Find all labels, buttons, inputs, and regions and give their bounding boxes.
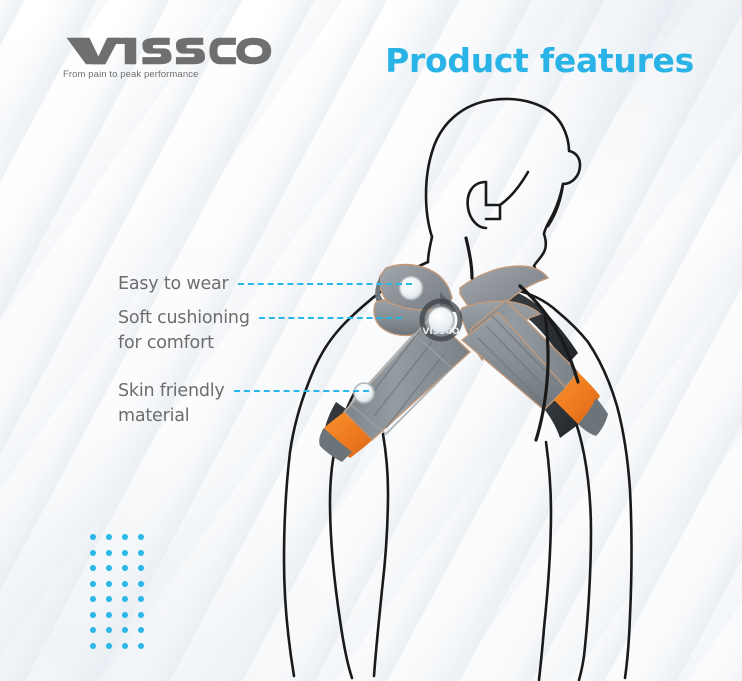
dot (138, 581, 144, 587)
dot (106, 627, 112, 633)
callout-skin-friendly-leader-line (234, 390, 369, 417)
dot (122, 581, 128, 587)
callout-skin-friendly-line-1: Skin friendly (118, 379, 225, 404)
dot (106, 581, 112, 587)
dot (106, 612, 112, 618)
decorative-dot-grid (90, 534, 154, 658)
dot (90, 565, 96, 571)
dot (106, 596, 112, 602)
dot (106, 643, 112, 649)
dot (122, 643, 128, 649)
dot (106, 534, 112, 540)
dot (90, 596, 96, 602)
dot (138, 643, 144, 649)
callout-soft-cushioning: Soft cushioning for comfort (118, 306, 402, 356)
dot (90, 612, 96, 618)
dot (106, 565, 112, 571)
dot (106, 550, 112, 556)
dot (138, 612, 144, 618)
product-features-slide: From pain to peak performance Product fe… (0, 0, 742, 681)
dot (90, 550, 96, 556)
dot (122, 550, 128, 556)
callout-skin-friendly-line-2: material (118, 404, 225, 429)
dot (122, 565, 128, 571)
dot (138, 534, 144, 540)
dot (122, 596, 128, 602)
callout-easy-to-wear-line-1: Easy to wear (118, 272, 229, 297)
dot (90, 627, 96, 633)
product-badge-text: VISSCO (422, 327, 459, 337)
callout-easy-to-wear-text: Easy to wear (118, 272, 229, 297)
callout-easy-to-wear: Easy to wear (118, 272, 412, 310)
callout-skin-friendly: Skin friendly material (118, 379, 369, 429)
dot (90, 581, 96, 587)
dot (90, 534, 96, 540)
dot (122, 612, 128, 618)
callout-soft-cushioning-line-1: Soft cushioning (118, 306, 250, 331)
callout-soft-cushioning-text: Soft cushioning for comfort (118, 306, 250, 356)
dot (122, 627, 128, 633)
dot (138, 550, 144, 556)
dot (122, 534, 128, 540)
dot (138, 565, 144, 571)
callout-skin-friendly-text: Skin friendly material (118, 379, 225, 429)
callout-soft-cushioning-leader-line (259, 317, 402, 344)
dot (138, 627, 144, 633)
dot (138, 596, 144, 602)
callout-soft-cushioning-line-2: for comfort (118, 331, 250, 356)
dot (90, 643, 96, 649)
